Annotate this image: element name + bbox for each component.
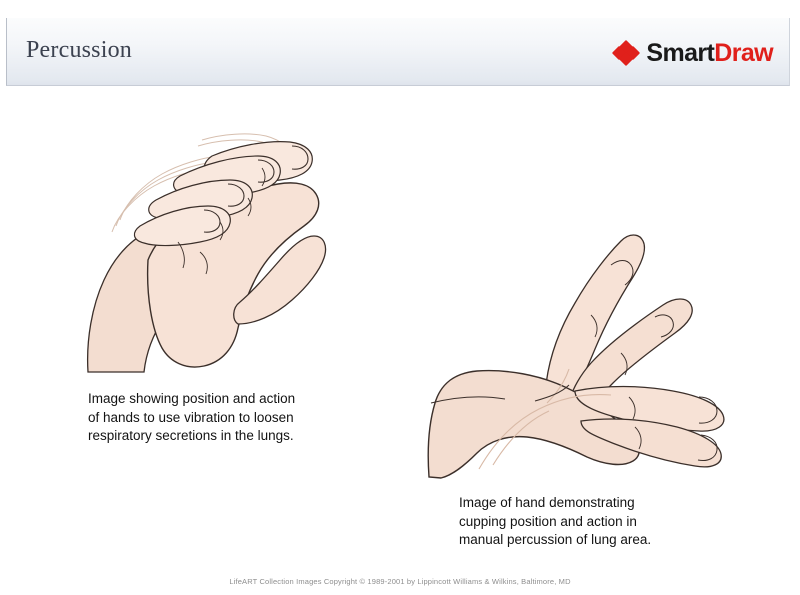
page-title: Percussion — [26, 35, 132, 65]
smartdraw-logo[interactable]: SmartDraw — [613, 38, 773, 68]
cupping-hand-illustration — [415, 225, 745, 480]
vibration-hands-svg — [52, 110, 352, 380]
header-bar: Percussion SmartDraw — [6, 18, 790, 86]
footer-copyright: LifeART Collection Images Copyright © 19… — [0, 576, 800, 587]
brand-wordmark: SmartDraw — [646, 40, 773, 66]
cupping-hand-svg — [415, 225, 745, 480]
vibration-hands-illustration — [52, 110, 352, 380]
brand-word-smart: Smart — [646, 39, 714, 67]
caption-cupping: Image of hand demonstrating cupping posi… — [459, 494, 709, 550]
smartdraw-diamond-icon — [613, 42, 639, 64]
brand-word-draw: Draw — [714, 39, 773, 67]
caption-vibration: Image showing position and action of han… — [88, 390, 358, 446]
